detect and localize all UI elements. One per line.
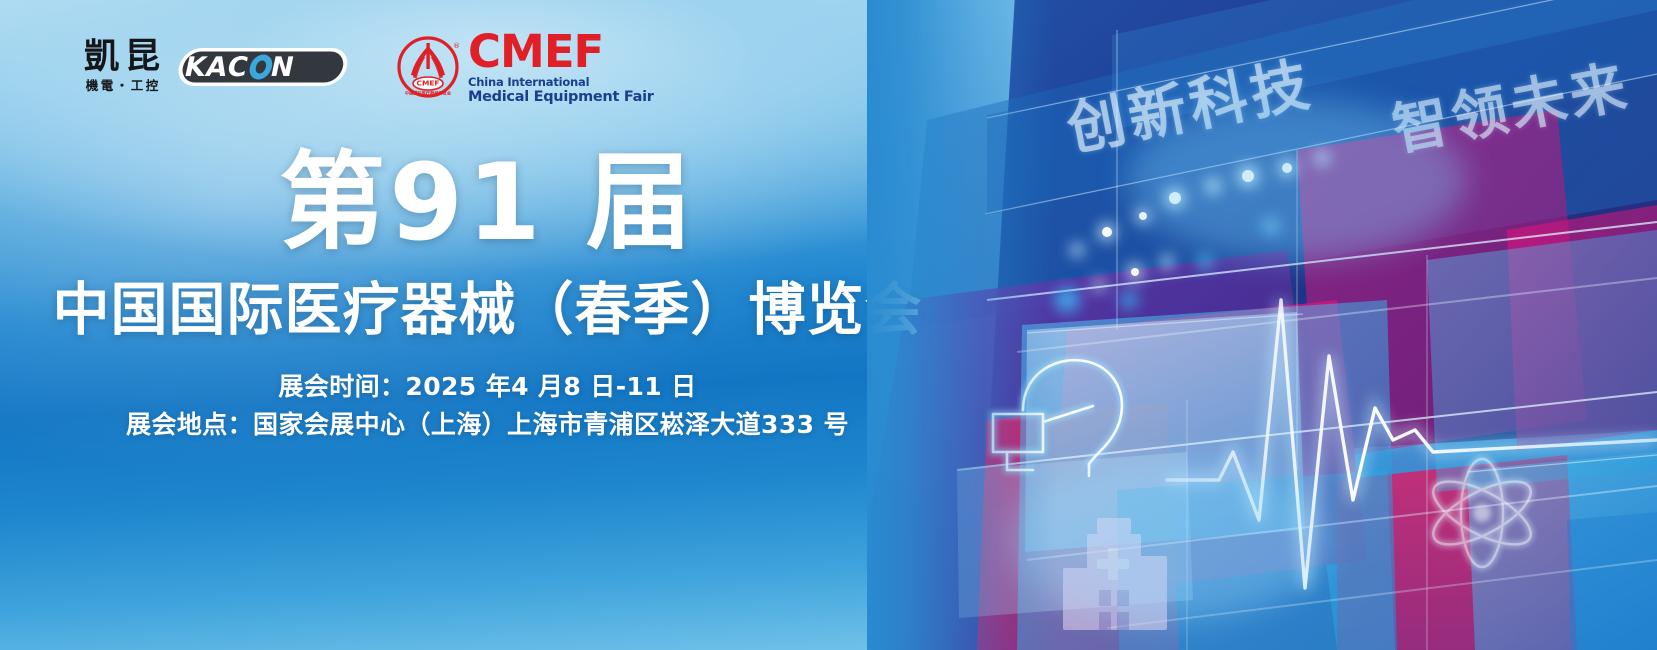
cmef-subtitle-line-2: Medical Equipment Fair <box>468 90 654 105</box>
kacon-wordmark-svg: KAC N <box>176 43 352 91</box>
cmef-seal-sub-label: 中国国际医疗器械博览会 <box>405 89 452 95</box>
artwork-svg: 创新科技 创新科技 智领未来 智领未来 <box>867 0 1657 650</box>
logo-bar: 凱昆 機電・工控 KAC N <box>78 29 654 104</box>
edition-title: 第91 届 <box>0 150 975 256</box>
registered-mark-icon: ® <box>453 42 460 50</box>
tech-collage-artwork: 创新科技 创新科技 智领未来 智领未来 <box>867 0 1657 650</box>
cmef-seal-svg: CMEF 中国国际医疗器械博览会 ® <box>396 35 460 99</box>
event-details: 展会时间：2025 年4 月8 日-11 日 展会地点：国家会展中心（上海）上海… <box>0 368 975 444</box>
fair-name-title: 中国国际医疗器械（春季）博览会 <box>0 280 975 342</box>
cmef-seal-icon: CMEF 中国国际医疗器械博览会 ® <box>396 35 460 99</box>
event-date-line: 展会时间：2025 年4 月8 日-11 日 <box>0 368 975 406</box>
kacon-chinese-lockup: 凱昆 機電・工控 <box>78 40 166 93</box>
cmef-wordmark: CMEF <box>468 29 654 74</box>
kacon-logo: 凱昆 機電・工控 KAC N <box>78 40 352 93</box>
svg-text:KAC: KAC <box>182 52 252 83</box>
kacon-chinese-tagline: 機電・工控 <box>83 80 161 93</box>
cmef-wordmark-lockup: CMEF China International Medical Equipme… <box>468 29 654 104</box>
cmef-seal-label: CMEF <box>417 78 440 87</box>
cmef-subtitle-line-1: China International <box>468 77 654 89</box>
kacon-wordmark-icon: KAC N <box>176 43 352 91</box>
event-venue-line: 展会地点：国家会展中心（上海）上海市青浦区崧泽大道333 号 <box>0 406 975 444</box>
cmef-logo: CMEF 中国国际医疗器械博览会 ® CMEF China Internatio… <box>396 29 654 104</box>
kacon-chinese-name: 凱昆 <box>78 40 166 75</box>
cmef-exhibition-banner: 创新科技 创新科技 智领未来 智领未来 <box>0 0 1657 650</box>
